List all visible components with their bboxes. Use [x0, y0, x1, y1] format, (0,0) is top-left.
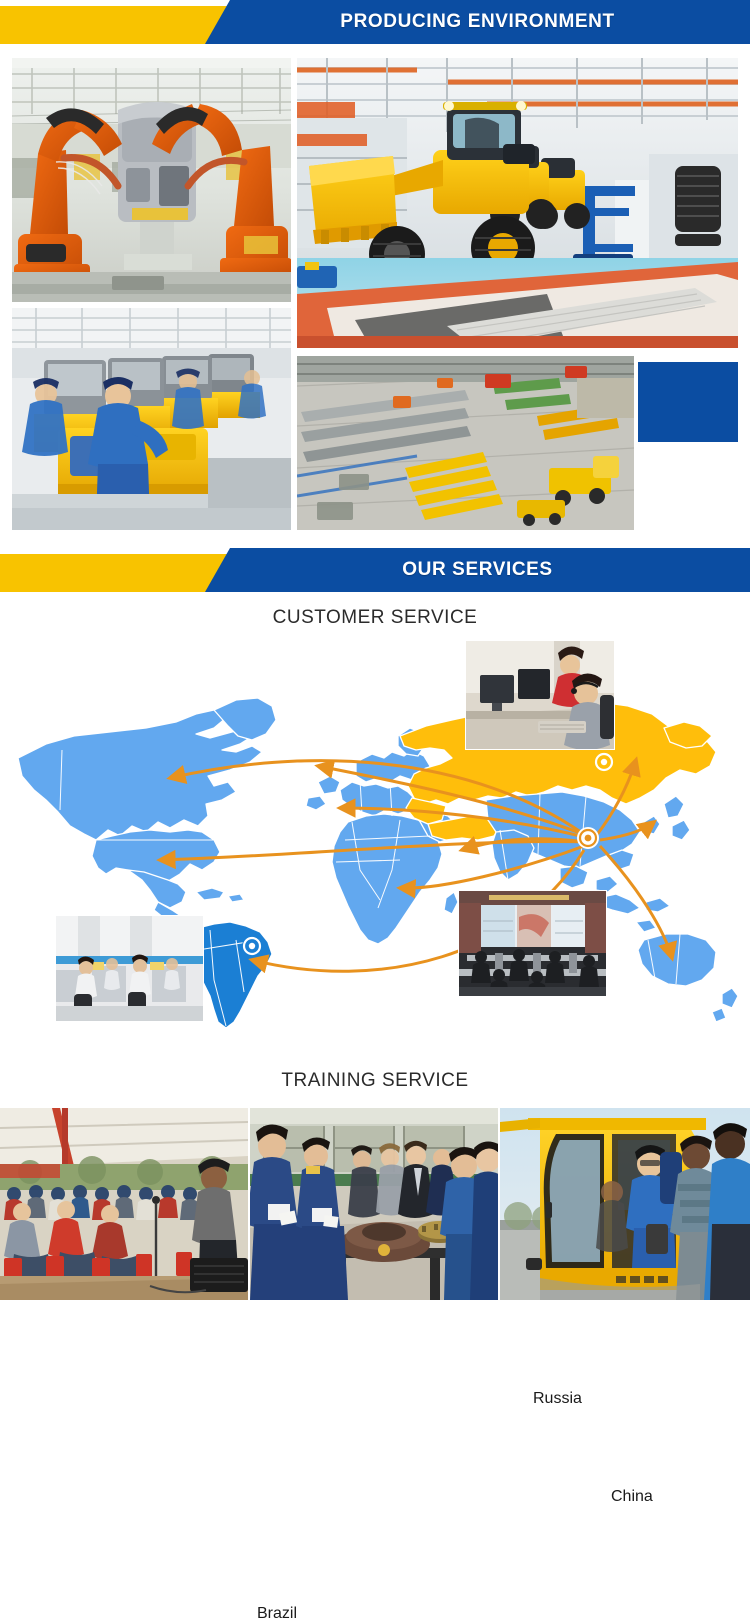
photo-russia-call-center	[465, 640, 615, 750]
section-title-producing-environment: PRODUCING ENVIRONMENT	[205, 0, 750, 44]
subsection-title-customer-service: CUSTOMER SERVICE	[0, 607, 750, 629]
map-label-china: China	[611, 1488, 653, 1506]
world-service-map: Russia China Brazil	[0, 640, 750, 1050]
photo-outdoor-tent-training	[0, 1108, 248, 1300]
photo-hydraulic-cylinder-yard	[297, 356, 634, 530]
photo-workshop-component-training	[250, 1108, 498, 1300]
section-banner-our-services: OUR SERVICES	[0, 548, 750, 598]
map-label-brazil: Brazil	[257, 1605, 297, 1623]
section-banner-producing-environment: PRODUCING ENVIRONMENT	[0, 0, 750, 50]
photo-brazil-service-office	[55, 915, 204, 1022]
photo-wheel-loader-assembly-line	[297, 58, 738, 348]
photo-operator-cab-training	[500, 1108, 750, 1300]
photo-china-control-center	[458, 890, 607, 997]
subsection-title-training-service: TRAINING SERVICE	[0, 1070, 750, 1092]
decorative-blue-block	[638, 362, 738, 442]
page-root: PRODUCING ENVIRONMENT	[0, 0, 750, 1300]
photo-cab-assembly-workers	[12, 308, 291, 530]
section-title-our-services: OUR SERVICES	[205, 548, 750, 592]
map-label-russia: Russia	[533, 1390, 582, 1408]
photo-robotic-welding-line	[12, 58, 291, 302]
